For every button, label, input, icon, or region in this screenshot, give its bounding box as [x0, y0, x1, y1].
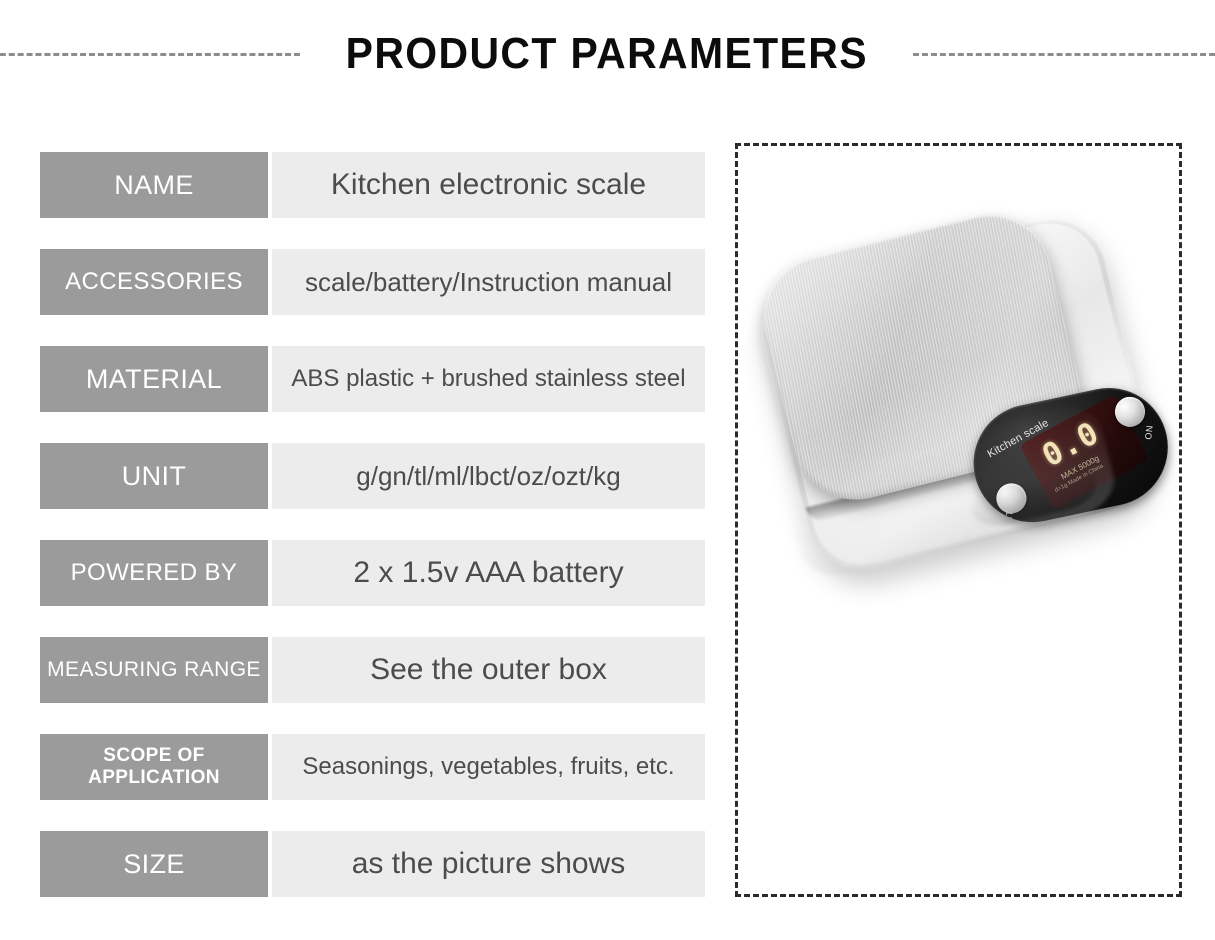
spec-label-measuring-range: MEASURING RANGE	[40, 637, 268, 703]
spec-label-unit: UNIT	[40, 443, 268, 509]
spec-value-scope-of-application: Seasonings, vegetables, fruits, etc.	[272, 734, 705, 800]
spec-value-size: as the picture shows	[272, 831, 705, 897]
spec-label-accessories: ACCESSORIES	[40, 249, 268, 315]
page-title: PRODUCT PARAMETERS	[345, 32, 867, 76]
page-title-row: PRODUCT PARAMETERS	[0, 26, 1215, 82]
product-parameters-page: PRODUCT PARAMETERS NAME Kitchen electron…	[0, 0, 1215, 940]
spec-label-scope-of-application: SCOPE OF APPLICATION	[40, 734, 268, 800]
spec-label-material: MATERIAL	[40, 346, 268, 412]
spec-label-size: SIZE	[40, 831, 268, 897]
table-row: MATERIAL ABS plastic + brushed stainless…	[40, 346, 705, 412]
spec-value-unit: g/gn/tl/ml/lbct/oz/ozt/kg	[272, 443, 705, 509]
spec-value-name: Kitchen electronic scale	[272, 152, 705, 218]
title-dash-left	[0, 53, 300, 56]
spec-label-name: NAME	[40, 152, 268, 218]
title-dash-right	[913, 53, 1215, 56]
table-row: NAME Kitchen electronic scale	[40, 152, 705, 218]
spec-label-powered-by: POWERED BY	[40, 540, 268, 606]
spec-table: NAME Kitchen electronic scale ACCESSORIE…	[40, 152, 705, 897]
table-row: MEASURING RANGE See the outer box	[40, 637, 705, 703]
product-photo-kitchen-scale: Kitchen scale 0.0 MAX 5000g d=1g Made in…	[738, 146, 1179, 894]
spec-value-accessories: scale/battery/Instruction manual	[272, 249, 705, 315]
table-row: SIZE as the picture shows	[40, 831, 705, 897]
spec-value-material: ABS plastic + brushed stainless steel	[272, 346, 705, 412]
reflection-fade	[778, 616, 1158, 786]
power-on-button-label: ON	[1143, 425, 1154, 440]
spec-value-powered-by: 2 x 1.5v AAA battery	[272, 540, 705, 606]
table-row: UNIT g/gn/tl/ml/lbct/oz/ozt/kg	[40, 443, 705, 509]
scale-assembly: Kitchen scale 0.0 MAX 5000g d=1g Made in…	[735, 182, 1182, 616]
spec-value-measuring-range: See the outer box	[272, 637, 705, 703]
table-row: POWERED BY 2 x 1.5v AAA battery	[40, 540, 705, 606]
product-photo-panel: Kitchen scale 0.0 MAX 5000g d=1g Made in…	[735, 143, 1182, 897]
table-row: SCOPE OF APPLICATION Seasonings, vegetab…	[40, 734, 705, 800]
table-row: ACCESSORIES scale/battery/Instruction ma…	[40, 249, 705, 315]
